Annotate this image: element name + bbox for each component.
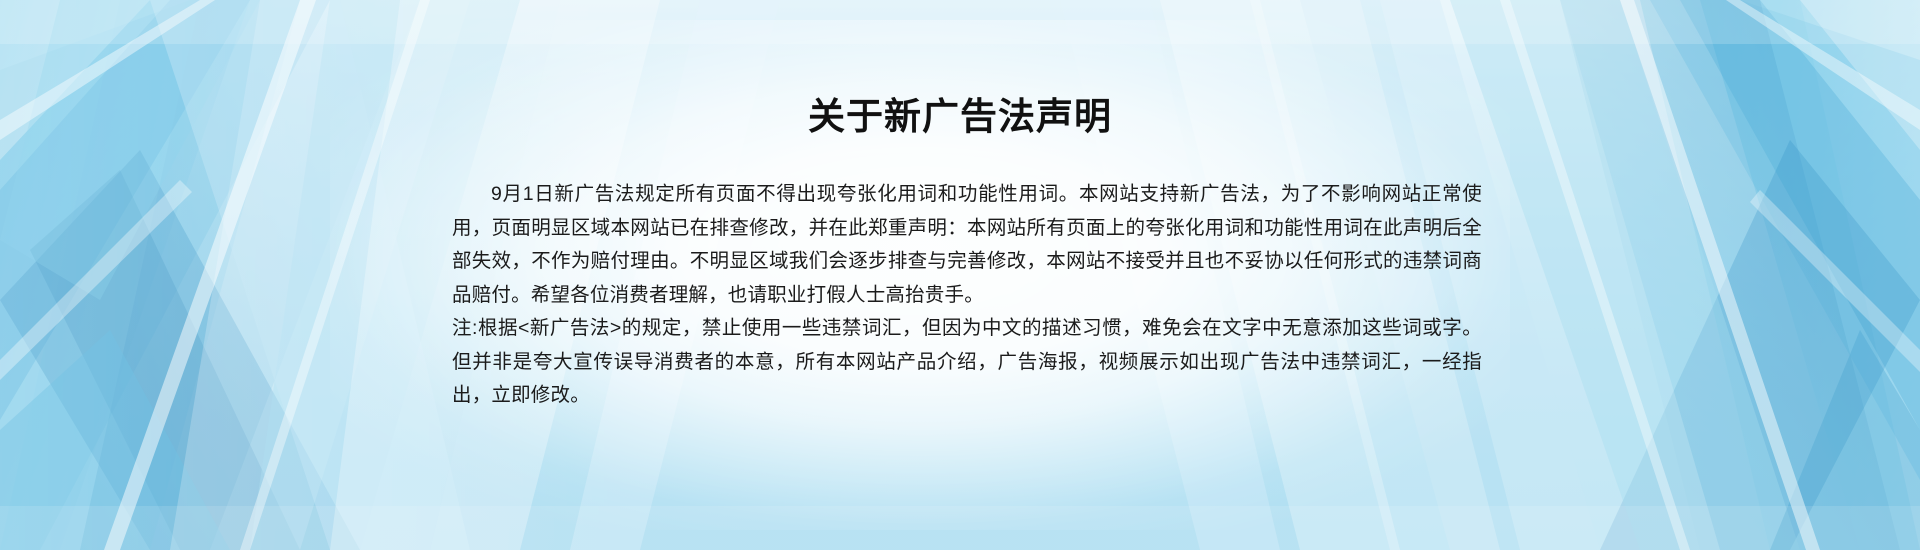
statement-body: 9月1日新广告法规定所有页面不得出现夸张化用词和功能性用词。本网站支持新广告法，… bbox=[452, 178, 1482, 413]
statement-paragraph-1: 9月1日新广告法规定所有页面不得出现夸张化用词和功能性用词。本网站支持新广告法，… bbox=[452, 178, 1482, 312]
page-title: 关于新广告法声明 bbox=[0, 95, 1920, 139]
banner-canvas: 关于新广告法声明 9月1日新广告法规定所有页面不得出现夸张化用词和功能性用词。本… bbox=[0, 0, 1920, 550]
statement-content: 关于新广告法声明 9月1日新广告法规定所有页面不得出现夸张化用词和功能性用词。本… bbox=[0, 0, 1920, 550]
statement-paragraph-2: 注:根据<新广告法>的规定，禁止使用一些违禁词汇，但因为中文的描述习惯，难免会在… bbox=[452, 312, 1482, 413]
